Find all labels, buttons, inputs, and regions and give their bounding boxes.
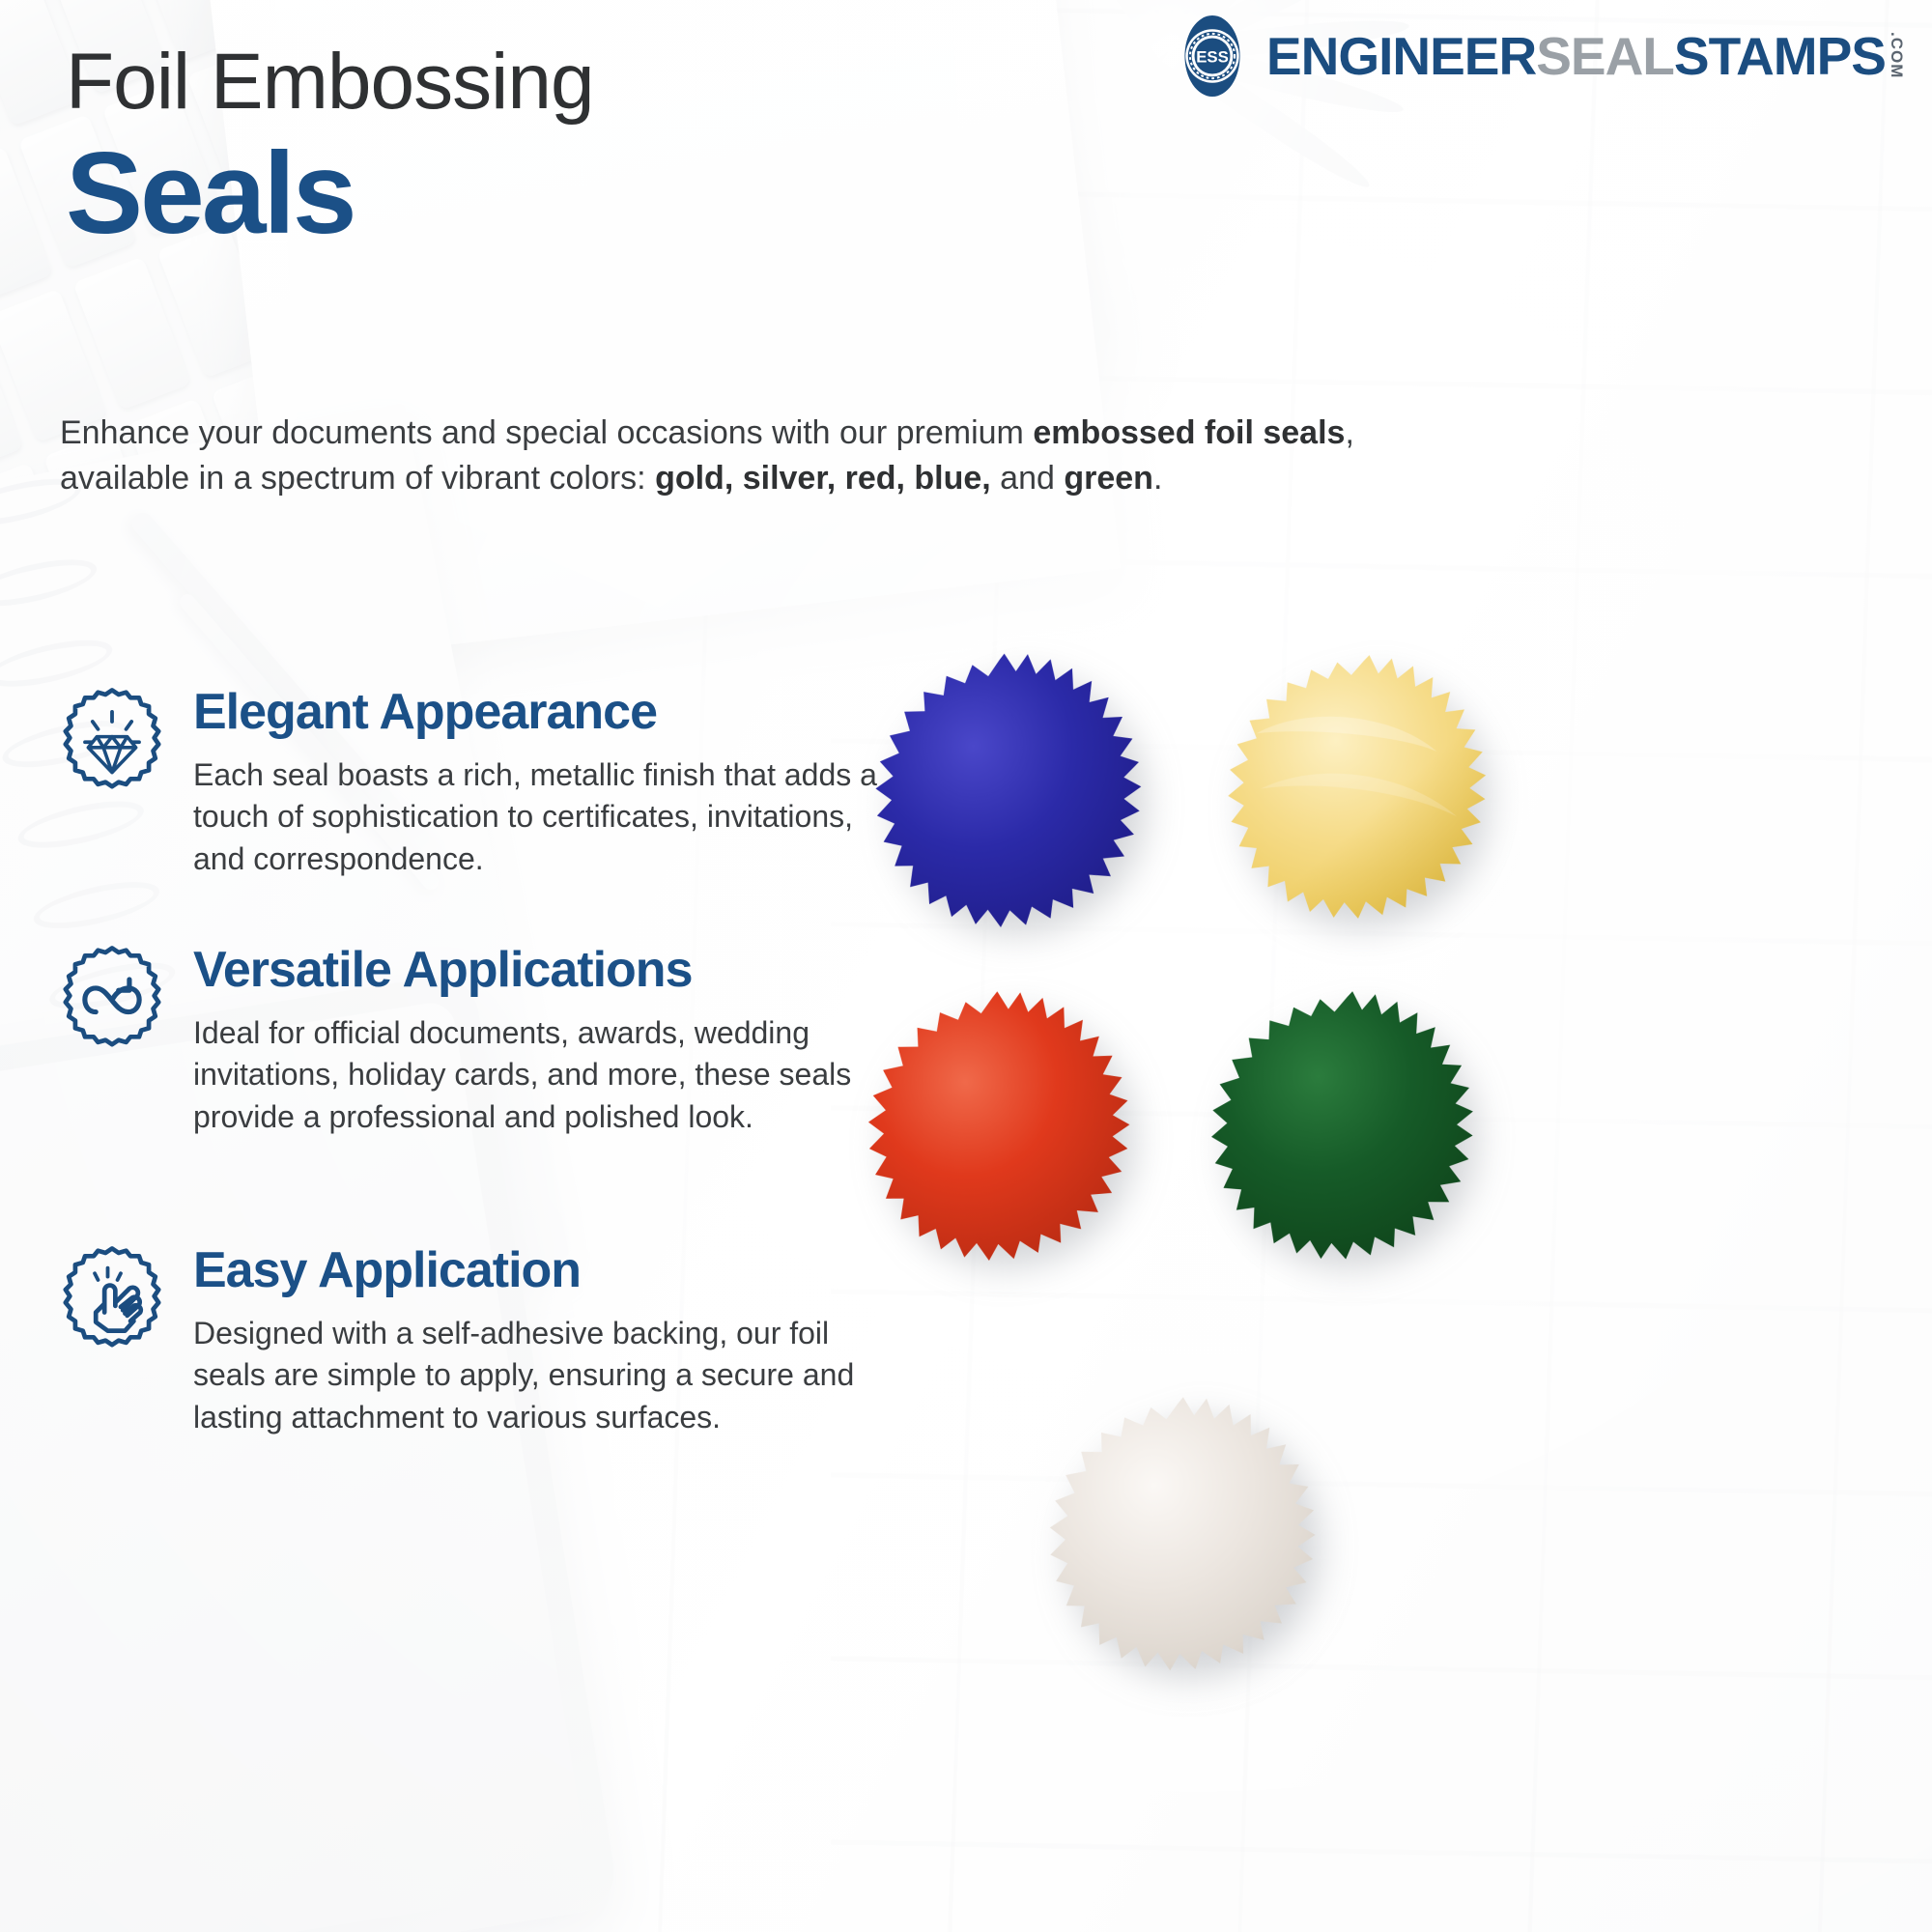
feature-body: Ideal for official documents, awards, we… — [193, 1012, 908, 1139]
feature-body: Each seal boasts a rich, metallic finish… — [193, 754, 908, 881]
blue-foil-seal — [840, 637, 1189, 958]
green-foil-seal — [1183, 980, 1512, 1285]
intro-bold-colors: gold, silver, red, blue, — [655, 460, 991, 497]
intro-paragraph: Enhance your documents and special occas… — [60, 411, 1490, 501]
infinity-seal-icon — [58, 944, 166, 1052]
intro-text-1: Enhance your documents and special occas… — [60, 414, 1033, 451]
silver-foil-seal — [1019, 1385, 1358, 1696]
feature-list: Elegant Appearance Each seal boasts a ri… — [58, 686, 908, 1502]
intro-text-4: . — [1153, 460, 1162, 497]
gold-foil-seal — [1195, 641, 1528, 948]
feature-body: Designed with a self-adhesive backing, o… — [193, 1313, 908, 1439]
page-title-line1: Foil Embossing — [66, 43, 594, 122]
feature-item-easy-application: Easy Application Designed with a self-ad… — [58, 1244, 908, 1438]
feature-item-elegant-appearance: Elegant Appearance Each seal boasts a ri… — [58, 686, 908, 880]
tapping-hand-seal-icon — [58, 1244, 166, 1352]
feature-heading: Elegant Appearance — [193, 686, 908, 739]
svg-text:ESS: ESS — [1196, 48, 1229, 67]
page-title-line2: Seals — [66, 135, 355, 251]
feature-heading: Easy Application — [193, 1244, 908, 1297]
intro-bold-green: green — [1064, 460, 1153, 497]
brand-logo[interactable]: ESS ENGINEERSEALSTAMPS.COM — [1172, 15, 1905, 97]
feature-item-versatile-applications: Versatile Applications Ideal for officia… — [58, 944, 908, 1138]
ess-gear-badge-icon: ESS — [1172, 15, 1253, 97]
red-foil-seal — [838, 978, 1172, 1289]
logo-part-tld: .COM — [1889, 32, 1905, 78]
logo-part-stamps: STAMPS — [1674, 30, 1886, 83]
diamond-seal-icon — [58, 686, 166, 794]
logo-part-engineer: ENGINEER — [1266, 30, 1536, 83]
intro-text-3: and — [991, 460, 1065, 497]
content-layer: ESS ENGINEERSEALSTAMPS.COM Foil Embossin… — [0, 0, 1932, 1932]
brand-logo-wordmark: ENGINEERSEALSTAMPS.COM — [1266, 30, 1905, 83]
intro-bold-embossed-foil-seals: embossed foil seals — [1033, 414, 1345, 451]
infographic-page: ESS ENGINEERSEALSTAMPS.COM Foil Embossin… — [0, 0, 1932, 1932]
feature-heading: Versatile Applications — [193, 944, 908, 997]
logo-part-seal: SEAL — [1536, 30, 1674, 83]
